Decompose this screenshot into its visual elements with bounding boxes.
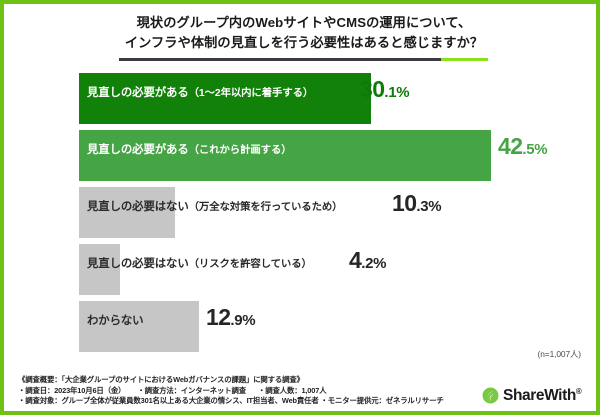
bar-label-paren-1: （1～2年以内に着手する） (189, 88, 314, 99)
footnote-survey-date: ・調査日：2023年10月6日（金） (18, 386, 125, 395)
title-underline-accent (441, 58, 488, 61)
bar-label-1: 見直しの必要がある（1～2年以内に着手する） (87, 88, 313, 99)
footnote-monitor-source: ・モニター提供元：ゼネラルリサーチ (321, 396, 444, 405)
bar-value-3: 10.3% (392, 192, 441, 215)
page-title: 現状のグループ内のWebサイトやCMSの運用について、 インフラや体制の見直しを… (4, 13, 600, 53)
logo-registered-mark: ® (576, 387, 582, 396)
bar-value-big-3: 10 (392, 190, 416, 216)
bar-chart: 見直しの必要がある（1～2年以内に着手する） 30.1% 見直しの必要がある（こ… (4, 70, 600, 355)
footnote-line-1: 《調査概要：「大企業グループのサイトにおけるWebガバナンスの課題」に関する調査… (18, 375, 488, 386)
bar-label-main-1: 見直しの必要がある (87, 87, 189, 99)
bar-value-small-1: .1% (384, 84, 409, 101)
bar-label-4: 見直しの必要はない（リスクを許容している） (87, 259, 312, 270)
bar-value-big-4: 4 (349, 247, 361, 273)
bar-value-big-2: 42 (498, 133, 522, 159)
survey-footnote: 《調査概要：「大企業グループのサイトにおけるWebガバナンスの課題」に関する調査… (18, 375, 488, 407)
bar-value-1: 30.1% (360, 78, 409, 101)
bar-label-3: 見直しの必要はない（万全な対策を行っているため） (87, 202, 342, 213)
bar-value-small-2: .5% (522, 141, 547, 158)
bar-label-paren-3: （万全な対策を行っているため） (189, 202, 343, 213)
bar-value-2: 42.5% (498, 135, 547, 158)
bar-value-small-4: .2% (361, 255, 386, 272)
bar-label-paren-4: （リスクを許容している） (189, 259, 312, 270)
infographic-poster: 現状のグループ内のWebサイトやCMSの運用について、 インフラや体制の見直しを… (0, 0, 600, 415)
footnote-line-2: ・調査日：2023年10月6日（金）・調査方法：インターネット調査・調査人数：1… (18, 386, 488, 397)
chart-row: 見直しの必要はない（リスクを許容している） 4.2% (4, 241, 600, 298)
bar-value-big-1: 30 (360, 76, 384, 102)
sharewith-logo: ShareWith® (482, 387, 581, 404)
chart-row: わからない 12.9% (4, 298, 600, 355)
bar-label-main-3: 見直しの必要はない (87, 201, 189, 213)
bar-label-2: 見直しの必要がある（これから計画する） (87, 145, 292, 156)
sample-size-note: (n=1,007人) (538, 348, 581, 360)
sharewith-leaf-icon (482, 387, 499, 404)
bar-value-small-3: .3% (416, 198, 441, 215)
bar-label-main-5: わからない (87, 315, 143, 327)
title-line-2: インフラや体制の見直しを行う必要性はあると感じますか？ (4, 33, 600, 53)
bar-label-paren-2: （これから計画する） (189, 145, 292, 156)
footnote-survey-target: ・調査対象：グループ全体が従業員数301名以上ある大企業の情シス、IT担当者、W… (18, 396, 319, 405)
bar-label-main-2: 見直しの必要がある (87, 144, 189, 156)
title-underline (119, 58, 488, 61)
sharewith-wordmark: ShareWith® (503, 388, 581, 404)
bar-value-small-5: .9% (230, 312, 255, 329)
logo-name: ShareWith (503, 387, 576, 404)
chart-row: 見直しの必要がある（これから計画する） 42.5% (4, 127, 600, 184)
footnote-line-3: ・調査対象：グループ全体が従業員数301名以上ある大企業の情シス、IT担当者、W… (18, 396, 488, 407)
footnote-survey-method: ・調査方法：インターネット調査 (137, 386, 246, 395)
bar-label-5: わからない (87, 316, 143, 327)
bar-value-4: 4.2% (349, 249, 386, 272)
chart-row: 見直しの必要がある（1～2年以内に着手する） 30.1% (4, 70, 600, 127)
footnote-survey-count: ・調査人数：1,007人 (258, 386, 326, 395)
bar-label-main-4: 見直しの必要はない (87, 258, 189, 270)
chart-row: 見直しの必要はない（万全な対策を行っているため） 10.3% (4, 184, 600, 241)
title-line-1: 現状のグループ内のWebサイトやCMSの運用について、 (4, 13, 600, 33)
bar-value-5: 12.9% (206, 306, 255, 329)
bar-value-big-5: 12 (206, 304, 230, 330)
